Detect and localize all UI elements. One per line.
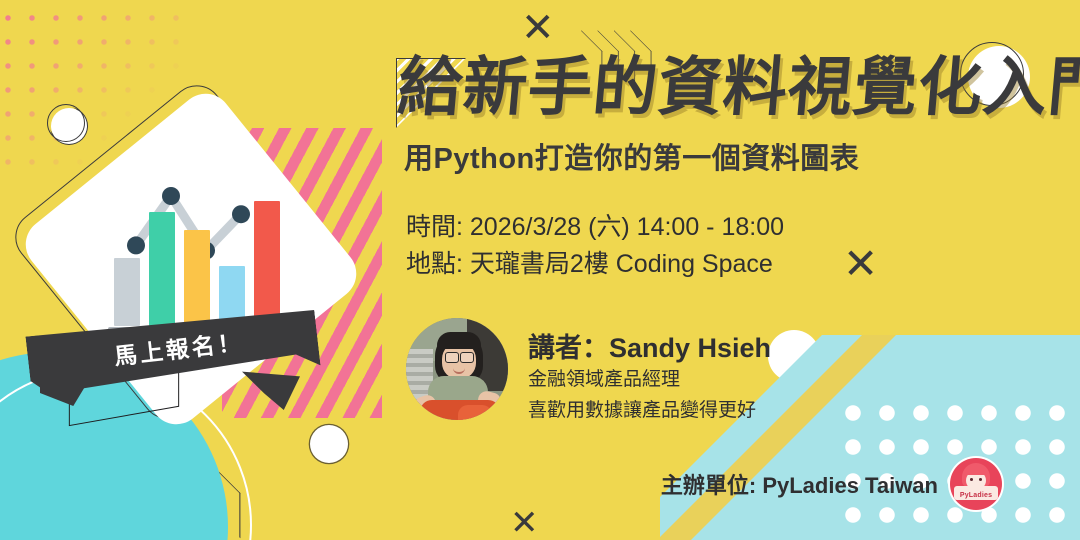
detail-value-location: 天瓏書局2樓 Coding Space (470, 250, 773, 278)
event-details: 時間: 2026/3/28 (六) 14:00 - 18:00 地點: 天瓏書局… (406, 209, 1058, 282)
teal-circle-shape (0, 352, 228, 540)
chart-bar (184, 230, 210, 326)
chart-data-point (197, 242, 215, 260)
outlined-circle-icon (51, 108, 87, 144)
ribbon-tail-left (40, 370, 92, 406)
speaker-block: 講者：Sandy Hsieh 金融領域產品經理 喜歡用數據讓產品變得更好 (406, 318, 771, 427)
event-title: 給新手的資料視覺化入門 (395, 56, 1061, 121)
speaker-bio-line: 喜歡用數據讓產品變得更好 (528, 396, 771, 427)
pyladies-logo-icon: PyLadies (950, 458, 1002, 510)
pink-stripe-pattern (222, 128, 382, 418)
event-poster: ✕ ✕ ✕ 馬上報名！ 給新手的 (0, 0, 1080, 540)
chart-illustration: 馬上報名！ (44, 120, 404, 430)
organizer-label: 主辦單位: PyLadies Taiwan (661, 468, 938, 500)
chart-bar (114, 258, 140, 326)
event-subtitle: 用Python打造你的第一個資料圖表 (404, 135, 1058, 177)
trend-line-graphic (114, 182, 294, 342)
speaker-info: 講者：Sandy Hsieh 金融領域產品經理 喜歡用數據讓產品變得更好 (528, 318, 771, 427)
chart-bar (254, 201, 280, 326)
chart-data-point (162, 187, 180, 205)
bar-chart-graphic (114, 182, 294, 342)
decorative-circle (768, 330, 820, 382)
register-ribbon[interactable]: 馬上報名！ (28, 308, 328, 418)
speaker-name: 講者：Sandy Hsieh (528, 326, 771, 365)
chart-baseline (108, 327, 296, 334)
ribbon-tail-right (242, 370, 300, 410)
avatar (406, 318, 508, 420)
white-card-shape (15, 83, 367, 435)
organizer-block: 主辦單位: PyLadies Taiwan PyLadies (661, 458, 1002, 510)
poster-content: 給新手的資料視覺化入門 用Python打造你的第一個資料圖表 時間: 2026/… (398, 56, 1058, 282)
card-outline-shape (5, 75, 359, 429)
detail-value-time: 2026/3/28 (六) 14:00 - 18:00 (470, 213, 784, 241)
chart-data-point (127, 236, 145, 254)
speaker-bio-line: 金融領域產品經理 (528, 365, 771, 396)
chevron-right-icon (146, 479, 234, 524)
logo-wordmark: PyLadies (954, 492, 998, 499)
chart-bar (149, 212, 175, 326)
register-now-label: 馬上報名！ (112, 323, 245, 371)
chart-bars (114, 196, 280, 326)
cross-mark-icon: ✕ (521, 8, 555, 48)
chart-bar (219, 266, 245, 326)
ribbon-body[interactable]: 馬上報名！ (25, 304, 320, 398)
chart-data-point (232, 205, 250, 223)
detail-row-time: 時間: 2026/3/28 (六) 14:00 - 18:00 (406, 209, 1058, 245)
halftone-dot-pattern (0, 0, 192, 182)
detail-label-location: 地點: (406, 250, 463, 278)
white-arc-outline (0, 368, 252, 540)
ribbon-outline-shape (69, 350, 179, 426)
detail-row-location: 地點: 天瓏書局2樓 Coding Space (406, 246, 1058, 282)
detail-label-time: 時間: (406, 213, 463, 241)
cross-mark-icon: ✕ (510, 506, 539, 540)
decorative-circle (310, 425, 348, 463)
